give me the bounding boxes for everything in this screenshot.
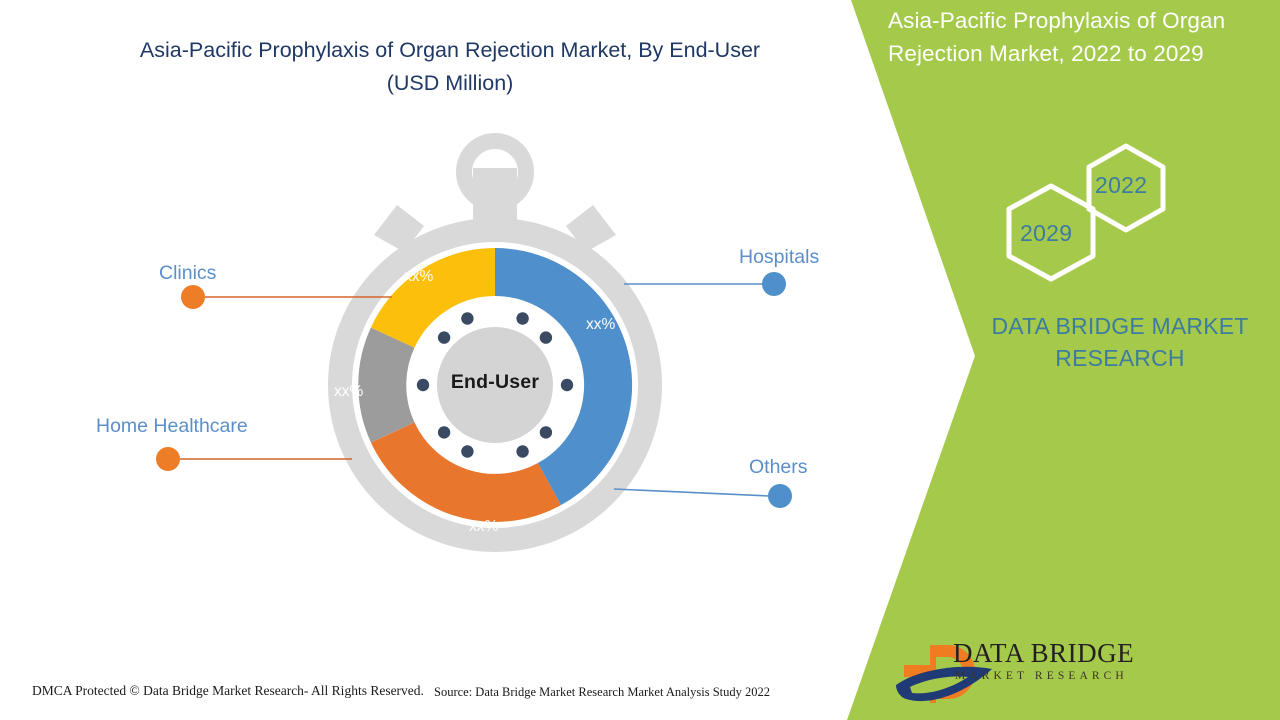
donut-segment-home-healthcare: [382, 338, 392, 433]
callout-dot-others[interactable]: [768, 484, 792, 508]
callout-dot-hospitals[interactable]: [762, 272, 786, 296]
segment-value-hospitals: xx%: [586, 316, 615, 334]
callout-dot-clinics[interactable]: [181, 285, 205, 309]
logo-subtext: MARKET RESEARCH: [955, 670, 1128, 682]
callout-label-home-healthcare: Home Healthcare: [96, 415, 248, 438]
segment-value-home-healthcare: xx%: [334, 383, 363, 401]
callout-label-hospitals: Hospitals: [739, 246, 819, 269]
footer-copyright: DMCA Protected © Data Bridge Market Rese…: [32, 683, 424, 699]
logo-wordmark: DATA BRIDGE: [953, 638, 1134, 669]
callout-label-others: Others: [749, 456, 808, 479]
infographic-canvas: Asia-Pacific Prophylaxis of Organ Reject…: [0, 0, 1280, 720]
donut-center-label: End-User: [395, 371, 595, 394]
segment-value-clinics: xx%: [404, 268, 433, 286]
callout-dot-home-healthcare[interactable]: [156, 447, 180, 471]
callout-line-others: [614, 489, 769, 496]
footer-source: Source: Data Bridge Market Research Mark…: [434, 685, 770, 700]
callout-label-clinics: Clinics: [159, 262, 216, 285]
donut-chart: [0, 0, 1280, 720]
segment-value-others: xx%: [469, 518, 498, 536]
